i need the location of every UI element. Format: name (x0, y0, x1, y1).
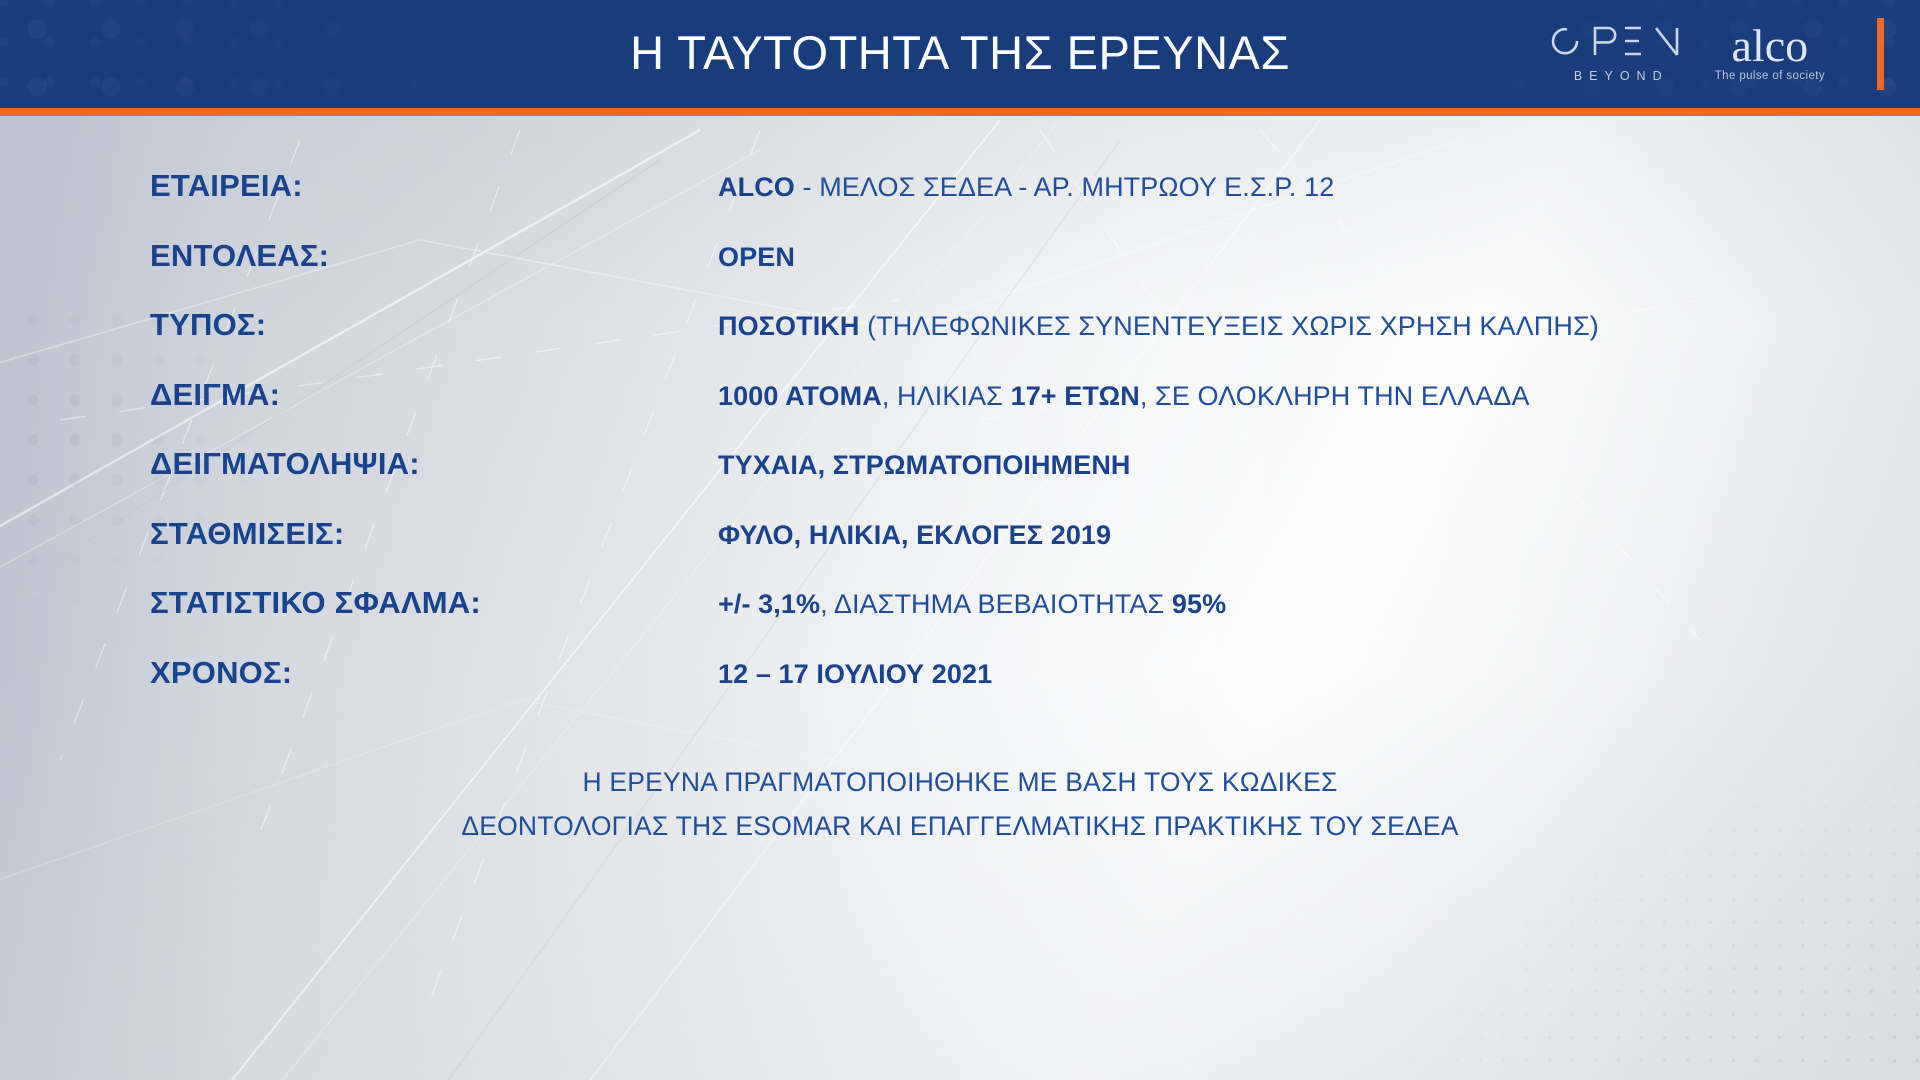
detail-row-label: ΔΕΙΓΜΑΤΟΛΗΨΙΑ: (150, 446, 718, 482)
detail-row-label: ΔΕΙΓΜΑ: (150, 377, 718, 413)
detail-row-value: 1000 ΑΤΟΜΑ, ΗΛΙΚΙΑΣ 17+ ΕΤΩΝ, ΣΕ ΟΛΟΚΛΗΡ… (718, 381, 1530, 412)
compliance-note-line-2: ΔΕΟΝΤΟΛΟΓΙΑΣ ΤΗΣ ESOMAR ΚΑΙ ΕΠΑΓΓΕΛΜΑΤΙΚ… (0, 804, 1920, 848)
value-emphasis: 95% (1172, 589, 1226, 619)
alco-logo: alco The pulse of society (1715, 24, 1825, 82)
value-emphasis: ΤΥΧΑΙΑ, ΣΤΡΩΜΑΤΟΠΟΙΗΜΕΝΗ (718, 450, 1131, 480)
detail-row: ΣΤΑΤΙΣΤΙΚΟ ΣΦΑΛΜΑ:+/- 3,1%, ΔΙΑΣΤΗΜΑ ΒΕΒ… (150, 585, 1850, 655)
value-emphasis: ALCO (718, 172, 795, 202)
detail-row: ΔΕΙΓΜΑΤΟΛΗΨΙΑ:ΤΥΧΑΙΑ, ΣΤΡΩΜΑΤΟΠΟΙΗΜΕΝΗ (150, 446, 1850, 516)
detail-row-value: 12 – 17 ΙΟΥΛΙΟΥ 2021 (718, 659, 992, 690)
detail-row-label: ΣΤΑΘΜΙΣΕΙΣ: (150, 516, 718, 552)
value-emphasis: 1000 ΑΤΟΜΑ (718, 381, 882, 411)
detail-row: ΕΝΤΟΛΕΑΣ:OPEN (150, 238, 1850, 308)
detail-row-value: ΦΥΛΟ, ΗΛΙΚΙΑ, ΕΚΛΟΓΕΣ 2019 (718, 520, 1111, 551)
value-emphasis: OPEN (718, 242, 795, 272)
logo-group: BEYOND alco The pulse of society (1551, 0, 1920, 108)
survey-details-table: ΕΤΑΙΡΕΙΑ:ALCO - ΜΕΛΟΣ ΣΕΔΕΑ - ΑΡ. ΜΗΤΡΩΟ… (150, 168, 1850, 724)
value-text: , ΣΕ ΟΛΟΚΛΗΡΗ ΤΗΝ ΕΛΛΑΔΑ (1140, 381, 1530, 411)
detail-row: ΕΤΑΙΡΕΙΑ:ALCO - ΜΕΛΟΣ ΣΕΔΕΑ - ΑΡ. ΜΗΤΡΩΟ… (150, 168, 1850, 238)
detail-row: ΣΤΑΘΜΙΣΕΙΣ:ΦΥΛΟ, ΗΛΙΚΙΑ, ΕΚΛΟΓΕΣ 2019 (150, 516, 1850, 586)
value-text: , ΔΙΑΣΤΗΜΑ ΒΕΒΑΙΟΤΗΤΑΣ (820, 589, 1172, 619)
value-emphasis: +/- 3,1% (718, 589, 820, 619)
open-beyond-logo: BEYOND (1551, 24, 1685, 83)
value-text: - ΜΕΛΟΣ ΣΕΔΕΑ - ΑΡ. ΜΗΤΡΩΟΥ Ε.Σ.Ρ. 12 (795, 172, 1334, 202)
alco-tagline: The pulse of society (1715, 70, 1825, 82)
compliance-note: Η ΕΡΕΥΝΑ ΠΡΑΓΜΑΤΟΠΟΙΗΘΗΚΕ ΜΕ ΒΑΣΗ ΤΟΥΣ Κ… (0, 760, 1920, 848)
detail-row: ΧΡΟΝΟΣ:12 – 17 ΙΟΥΛΙΟΥ 2021 (150, 655, 1850, 725)
value-text: , ΗΛΙΚΙΑΣ (882, 381, 1011, 411)
detail-row-value: ΤΥΧΑΙΑ, ΣΤΡΩΜΑΤΟΠΟΙΗΜΕΝΗ (718, 450, 1131, 481)
detail-row-label: ΕΝΤΟΛΕΑΣ: (150, 238, 718, 274)
header-accent-rule (0, 108, 1920, 116)
slide-root: Η ΤΑΥΤΟΤΗΤΑ ΤΗΣ ΕΡΕΥΝΑΣ BE (0, 0, 1920, 1080)
detail-row-value: +/- 3,1%, ΔΙΑΣΤΗΜΑ ΒΕΒΑΙΟΤΗΤΑΣ 95% (718, 589, 1226, 620)
detail-row-label: ΧΡΟΝΟΣ: (150, 655, 718, 691)
logo-divider-bar (1877, 18, 1884, 90)
open-tagline: BEYOND (1567, 69, 1669, 83)
detail-row-label: ΣΤΑΤΙΣΤΙΚΟ ΣΦΑΛΜΑ: (150, 585, 718, 621)
detail-row-value: ΠΟΣΟΤΙΚΗ (ΤΗΛΕΦΩΝΙΚΕΣ ΣΥΝΕΝΤΕΥΞΕΙΣ ΧΩΡΙΣ… (718, 311, 1599, 342)
open-wordmark-icon (1551, 24, 1685, 63)
value-emphasis: 17+ ΕΤΩΝ (1011, 381, 1140, 411)
compliance-note-line-1: Η ΕΡΕΥΝΑ ΠΡΑΓΜΑΤΟΠΟΙΗΘΗΚΕ ΜΕ ΒΑΣΗ ΤΟΥΣ Κ… (0, 760, 1920, 804)
detail-row: ΤΥΠΟΣ:ΠΟΣΟΤΙΚΗ (ΤΗΛΕΦΩΝΙΚΕΣ ΣΥΝΕΝΤΕΥΞΕΙΣ… (150, 307, 1850, 377)
detail-row-value: OPEN (718, 242, 795, 273)
detail-row-value: ALCO - ΜΕΛΟΣ ΣΕΔΕΑ - ΑΡ. ΜΗΤΡΩΟΥ Ε.Σ.Ρ. … (718, 172, 1334, 203)
detail-row: ΔΕΙΓΜΑ:1000 ΑΤΟΜΑ, ΗΛΙΚΙΑΣ 17+ ΕΤΩΝ, ΣΕ … (150, 377, 1850, 447)
value-emphasis: ΦΥΛΟ, ΗΛΙΚΙΑ, ΕΚΛΟΓΕΣ 2019 (718, 520, 1111, 550)
value-emphasis: ΠΟΣΟΤΙΚΗ (718, 311, 860, 341)
detail-row-label: ΤΥΠΟΣ: (150, 307, 718, 343)
value-text: (ΤΗΛΕΦΩΝΙΚΕΣ ΣΥΝΕΝΤΕΥΞΕΙΣ ΧΩΡΙΣ ΧΡΗΣΗ ΚΑ… (860, 311, 1599, 341)
alco-wordmark: alco (1732, 24, 1809, 68)
detail-row-label: ΕΤΑΙΡΕΙΑ: (150, 168, 718, 204)
value-emphasis: 12 – 17 ΙΟΥΛΙΟΥ 2021 (718, 659, 992, 689)
